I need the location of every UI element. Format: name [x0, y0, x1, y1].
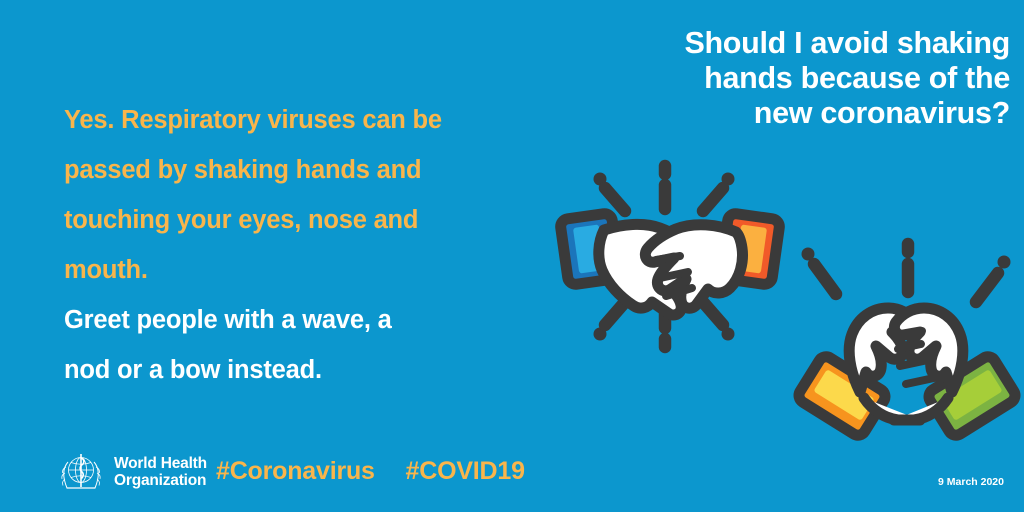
headline-line-3: new coronavirus?: [570, 96, 1010, 131]
who-wordmark: World Health Organization: [114, 455, 207, 490]
answer-paragraph: Yes. Respiratory viruses can be passed b…: [64, 95, 534, 295]
advice-paragraph: Greet people with a wave, a nod or a bow…: [64, 295, 534, 395]
headline-line-2: hands because of the: [570, 61, 1010, 96]
headline: Should I avoid shaking hands because of …: [570, 26, 1010, 131]
who-logo: World Health Organization: [56, 446, 207, 498]
handshake-svg: [552, 152, 788, 358]
burst-marks-top: [594, 166, 735, 211]
answer-line-3: touching your eyes, nose and: [64, 195, 534, 245]
who-coronavirus-infographic: Should I avoid shaking hands because of …: [0, 0, 1024, 512]
clasped-hands-svg: [788, 232, 1024, 442]
hashtag-covid19[interactable]: #COVID19: [406, 457, 525, 486]
advice-line-1: Greet people with a wave, a: [64, 295, 534, 345]
burst-marks-top: [802, 244, 1011, 302]
headline-line-1: Should I avoid shaking: [570, 26, 1010, 61]
answer-line-1: Yes. Respiratory viruses can be: [64, 95, 534, 145]
who-wordmark-line-1: World Health: [114, 455, 207, 473]
date-stamp: 9 March 2020: [938, 476, 1004, 488]
who-wordmark-line-2: Organization: [114, 472, 207, 490]
advice-line-2: nod or a bow instead.: [64, 345, 534, 395]
answer-line-2: passed by shaking hands and: [64, 145, 534, 195]
hashtag-coronavirus[interactable]: #Coronavirus: [216, 457, 375, 486]
handshake-illustration: [552, 152, 788, 358]
who-emblem-icon: [56, 447, 106, 497]
hashtag-group: #Coronavirus #COVID19: [216, 457, 525, 486]
body-copy: Yes. Respiratory viruses can be passed b…: [64, 95, 534, 395]
clasped-hands-illustration: [788, 232, 1024, 442]
answer-line-4: mouth.: [64, 245, 534, 295]
